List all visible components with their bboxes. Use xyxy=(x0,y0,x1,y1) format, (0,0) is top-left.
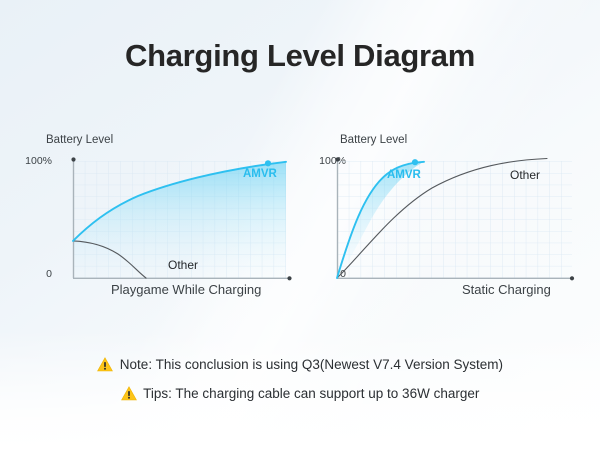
chart-left-x-axis-title: Playgame While Charging xyxy=(111,282,261,297)
chart-right-series-other-label: Other xyxy=(510,168,540,182)
note-line: Note: This conclusion is using Q3(Newest… xyxy=(0,352,600,381)
chart-left-series-other-label: Other xyxy=(168,258,198,272)
chart-right-series-amvr-marker xyxy=(412,159,418,165)
chart-right-x-axis-cap-dot xyxy=(570,276,574,280)
chart-left-y-axis-cap-dot xyxy=(71,157,75,161)
note-text: Note: This conclusion is using Q3(Newest… xyxy=(120,357,503,372)
page-background: Charging Level Diagram Battery Level 100… xyxy=(0,0,600,450)
page-title: Charging Level Diagram xyxy=(0,38,600,74)
tips-line: Tips: The charging cable can support up … xyxy=(0,381,600,410)
tips-text: Tips: The charging cable can support up … xyxy=(143,386,479,401)
chart-left-series-amvr-marker xyxy=(265,160,271,166)
chart-right-plot xyxy=(302,130,592,305)
warning-triangle-icon xyxy=(97,355,113,381)
chart-right-series-amvr-label: AMVR xyxy=(387,169,421,181)
chart-left-plot xyxy=(8,130,298,305)
chart-playgame-while-charging: Battery Level 100% 0 xyxy=(8,130,298,305)
notes-block: Note: This conclusion is using Q3(Newest… xyxy=(0,352,600,410)
chart-right-y-axis-cap-dot xyxy=(335,157,339,161)
charts-container: Battery Level 100% 0 xyxy=(0,130,600,305)
chart-static-charging: Battery Level 100% 0 xyxy=(302,130,592,305)
warning-triangle-icon xyxy=(121,384,137,410)
chart-right-x-axis-title: Static Charging xyxy=(462,282,551,297)
chart-left-x-axis-cap-dot xyxy=(287,276,291,280)
chart-left-series-amvr-label: AMVR xyxy=(243,168,277,180)
